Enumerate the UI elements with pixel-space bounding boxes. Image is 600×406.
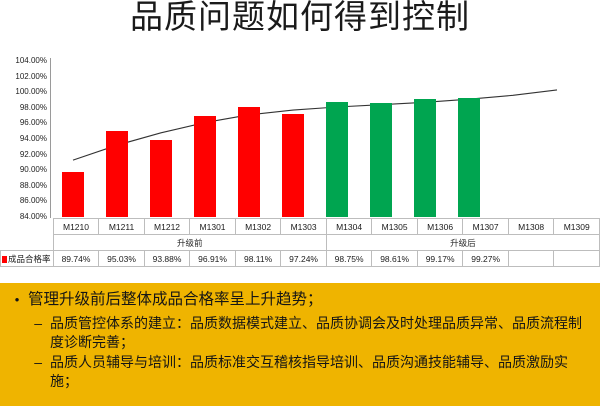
table-row-groups: 升级前升级后 xyxy=(1,235,600,251)
note-bullet-3: –品质人员辅导与培训：品质标准交互稽核指导培训、品质沟通技能辅导、品质激励实施； xyxy=(6,353,594,391)
bar-M1307 xyxy=(458,98,481,217)
table-row-categories: M1210M1211M1212M1301M1302M1303M1304M1305… xyxy=(1,219,600,235)
plot-area xyxy=(51,55,579,218)
note-bullet-text: 品质人员辅导与培训：品质标准交互稽核指导培训、品质沟通技能辅导、品质激励实施； xyxy=(50,353,594,391)
y-axis-tick-label: 92.00% xyxy=(20,151,47,159)
category-header-M1308: M1308 xyxy=(508,219,554,235)
trendline xyxy=(51,55,579,218)
table-corner-blank xyxy=(1,219,54,235)
notes-panel: •管理升级前后整体成品合格率呈上升趋势；–品质管控体系的建立：品质数据模式建立、… xyxy=(0,283,600,406)
bullet-marker-icon: – xyxy=(6,353,50,372)
bar-M1210 xyxy=(62,172,85,217)
value-cell-M1307: 99.27% xyxy=(463,251,509,267)
category-header-M1211: M1211 xyxy=(99,219,145,235)
y-axis-tick-label: 94.00% xyxy=(20,135,47,143)
y-axis-tick-label: 100.00% xyxy=(15,88,47,96)
value-cell-M1305: 98.61% xyxy=(372,251,418,267)
bar-M1302 xyxy=(238,107,261,217)
value-cell-M1306: 99.17% xyxy=(417,251,463,267)
category-header-M1304: M1304 xyxy=(326,219,372,235)
y-axis: 104.00%102.00%100.00%98.00%96.00%94.00%9… xyxy=(0,55,50,225)
category-header-M1307: M1307 xyxy=(463,219,509,235)
value-cell-M1211: 95.03% xyxy=(99,251,145,267)
note-bullet-1: •管理升级前后整体成品合格率呈上升趋势； xyxy=(6,289,594,311)
value-cell-M1210: 89.74% xyxy=(53,251,99,267)
bullet-marker-icon: – xyxy=(6,314,50,333)
bar-M1301 xyxy=(194,116,217,217)
category-header-M1301: M1301 xyxy=(190,219,236,235)
category-header-M1212: M1212 xyxy=(144,219,190,235)
note-bullet-text: 品质管控体系的建立：品质数据模式建立、品质协调会及时处理品质异常、品质流程制度诊… xyxy=(50,314,594,352)
category-header-M1303: M1303 xyxy=(281,219,327,235)
series-name: 成品合格率 xyxy=(8,254,51,264)
group-row-blank xyxy=(1,235,54,251)
bar-M1211 xyxy=(106,131,129,217)
y-axis-tick-label: 90.00% xyxy=(20,166,47,174)
category-header-M1306: M1306 xyxy=(417,219,463,235)
y-axis-tick-label: 102.00% xyxy=(15,73,47,81)
note-bullet-text: 管理升级前后整体成品合格率呈上升趋势； xyxy=(28,289,323,311)
y-axis-tick-label: 86.00% xyxy=(20,197,47,205)
category-header-M1302: M1302 xyxy=(235,219,281,235)
y-axis-tick-label: 104.00% xyxy=(15,57,47,65)
group-label-升级后: 升级后 xyxy=(326,235,599,251)
value-cell-M1308 xyxy=(508,251,554,267)
value-cell-M1304: 98.75% xyxy=(326,251,372,267)
y-axis-tick-label: 88.00% xyxy=(20,182,47,190)
legend-swatch-icon xyxy=(2,256,7,263)
note-bullet-2: –品质管控体系的建立：品质数据模式建立、品质协调会及时处理品质异常、品质流程制度… xyxy=(6,314,594,352)
value-cell-M1302: 98.11% xyxy=(235,251,281,267)
data-table: M1210M1211M1212M1301M1302M1303M1304M1305… xyxy=(0,218,600,267)
value-cell-M1303: 97.24% xyxy=(281,251,327,267)
bar-M1304 xyxy=(326,102,349,217)
table-row-values: 成品合格率89.74%95.03%93.88%96.91%98.11%97.24… xyxy=(1,251,600,267)
bar-M1212 xyxy=(150,140,173,217)
page-title: 品质问题如何得到控制 xyxy=(0,0,600,38)
category-header-M1309: M1309 xyxy=(554,219,600,235)
bar-M1305 xyxy=(370,103,393,217)
bar-M1303 xyxy=(282,114,305,217)
series-legend-label: 成品合格率 xyxy=(1,251,54,267)
bullet-marker-icon: • xyxy=(6,289,28,311)
y-axis-tick-label: 96.00% xyxy=(20,119,47,127)
group-label-升级前: 升级前 xyxy=(53,235,326,251)
value-cell-M1212: 93.88% xyxy=(144,251,190,267)
y-axis-tick-label: 98.00% xyxy=(20,104,47,112)
value-cell-M1301: 96.91% xyxy=(190,251,236,267)
bar-M1306 xyxy=(414,99,437,217)
category-header-M1305: M1305 xyxy=(372,219,418,235)
value-cell-M1309 xyxy=(554,251,600,267)
category-header-M1210: M1210 xyxy=(53,219,99,235)
